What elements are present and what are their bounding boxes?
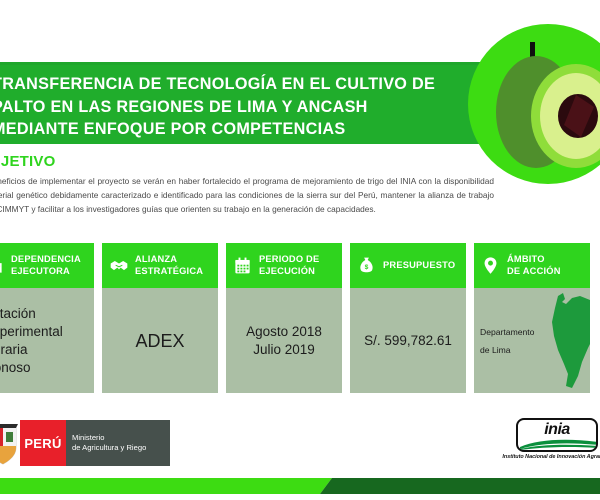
header-line-1: ALIANZA	[135, 254, 177, 264]
header-line-2: ESTRATÉGICA	[135, 266, 203, 276]
objective-body-text: Los beneficios de implementar el proyect…	[0, 174, 494, 217]
avocado-illustration	[468, 24, 600, 184]
card-header-label: ALIANZA ESTRATÉGICA	[135, 254, 203, 277]
title-line-2: PALTO EN LAS REGIONES DE LIMA Y ANCASH	[0, 96, 528, 119]
card-header-ambito-de-accion: ÁMBITO DE ACCIÓN	[474, 243, 590, 288]
ministry-label: Ministerio de Agricultura y Riego	[66, 420, 170, 466]
info-card-periodo-de-ejecucion: PERIODO DE EJECUCIÓN Agosto 2018 Julio 2…	[226, 243, 342, 393]
inia-tagline: Instituto Nacional de Innovación Agraria	[492, 454, 600, 460]
card-body-dependencia-ejecutora: Estación Experimental Agraria Donoso	[0, 288, 94, 393]
header-line-1: PERIODO DE	[259, 254, 319, 264]
card-body-alianza-estrategica: ADEX	[102, 288, 218, 393]
card-header-label: PRESUPUESTO	[383, 260, 455, 272]
info-card-row: DEPENDENCIA EJECUTORA Estación Experimen…	[0, 243, 600, 393]
body-line-2: de Lima	[480, 345, 511, 355]
calendar-icon	[232, 255, 253, 276]
card-header-label: PERIODO DE EJECUCIÓN	[259, 254, 319, 277]
inia-logo: inia Instituto Nacional de Innovación Ag…	[498, 418, 600, 460]
bottom-bar-dark-segment	[320, 478, 600, 494]
card-header-alianza-estrategica: ALIANZA ESTRATÉGICA	[102, 243, 218, 288]
peru-government-logo: PERÚ Ministerio de Agricultura y Riego	[0, 420, 170, 466]
info-card-dependencia-ejecutora: DEPENDENCIA EJECUTORA Estación Experimen…	[0, 243, 94, 393]
card-header-label: ÁMBITO DE ACCIÓN	[507, 254, 561, 277]
location-pin-icon	[480, 255, 501, 276]
building-icon	[0, 255, 5, 276]
svg-text:$: $	[365, 264, 369, 271]
ministry-line-2: de Agricultura y Riego	[72, 443, 170, 454]
info-card-alianza-estrategica: ALIANZA ESTRATÉGICA ADEX	[102, 243, 218, 393]
body-line-3: Agraria	[0, 342, 28, 357]
card-body-ambito-de-accion: Departamento de Lima	[474, 288, 590, 393]
body-line-2: Experimental	[0, 324, 63, 339]
body-line-1: Agosto 2018	[246, 324, 322, 339]
objective-heading: OBJETIVO	[0, 153, 55, 170]
peru-coat-of-arms-icon	[0, 420, 20, 466]
card-body-presupuesto: S/. 599,782.61	[350, 288, 466, 393]
title-line-3: MEDIANTE ENFOQUE POR COMPETENCIAS	[0, 118, 528, 141]
peru-map-icon	[542, 290, 590, 393]
card-header-label: DEPENDENCIA EJECUTORA	[11, 254, 81, 277]
money-bag-icon: $	[356, 255, 377, 276]
body-line-1: Estación	[0, 306, 36, 321]
body-line-4: Donoso	[0, 360, 31, 375]
card-body-text: Agosto 2018 Julio 2019	[240, 323, 328, 359]
info-card-ambito-de-accion: ÁMBITO DE ACCIÓN Departamento de Lima	[474, 243, 590, 393]
body-line-2: Julio 2019	[253, 342, 315, 357]
handshake-icon	[108, 255, 129, 276]
info-card-presupuesto: $ PRESUPUESTO S/. 599,782.61	[350, 243, 466, 393]
card-header-presupuesto: $ PRESUPUESTO	[350, 243, 466, 288]
card-header-dependencia-ejecutora: DEPENDENCIA EJECUTORA	[0, 243, 94, 288]
body-line-1: Departamento	[480, 327, 534, 337]
card-body-periodo-de-ejecucion: Agosto 2018 Julio 2019	[226, 288, 342, 393]
inia-swoosh-icon	[518, 436, 598, 450]
footer-logo-row: PERÚ Ministerio de Agricultura y Riego i…	[0, 415, 600, 475]
header-line-1: DEPENDENCIA	[11, 254, 81, 264]
inia-logo-box: inia	[516, 418, 598, 452]
peru-label: PERÚ	[20, 420, 66, 466]
header-line-2: EJECUCIÓN	[259, 266, 315, 276]
card-header-periodo-de-ejecucion: PERIODO DE EJECUCIÓN	[226, 243, 342, 288]
bottom-bar-bright-segment	[0, 478, 332, 494]
title-line-1: TRANSFERENCIA DE TECNOLOGÍA EN EL CULTIV…	[0, 73, 528, 96]
infographic-poster: TRANSFERENCIA DE TECNOLOGÍA EN EL CULTIV…	[0, 0, 600, 500]
header-line-2: EJECUTORA	[11, 266, 70, 276]
ministry-line-1: Ministerio	[72, 433, 170, 444]
bottom-accent-bar	[0, 478, 600, 494]
card-body-text: Estación Experimental Agraria Donoso	[0, 305, 69, 377]
card-body-text: S/. 599,782.61	[358, 332, 458, 350]
card-body-text: Departamento de Lima	[474, 323, 540, 359]
card-body-text: ADEX	[129, 332, 190, 350]
poster-title-band: TRANSFERENCIA DE TECNOLOGÍA EN EL CULTIV…	[0, 65, 528, 144]
header-line-2: DE ACCIÓN	[507, 266, 561, 276]
header-line-1: ÁMBITO	[507, 254, 545, 264]
